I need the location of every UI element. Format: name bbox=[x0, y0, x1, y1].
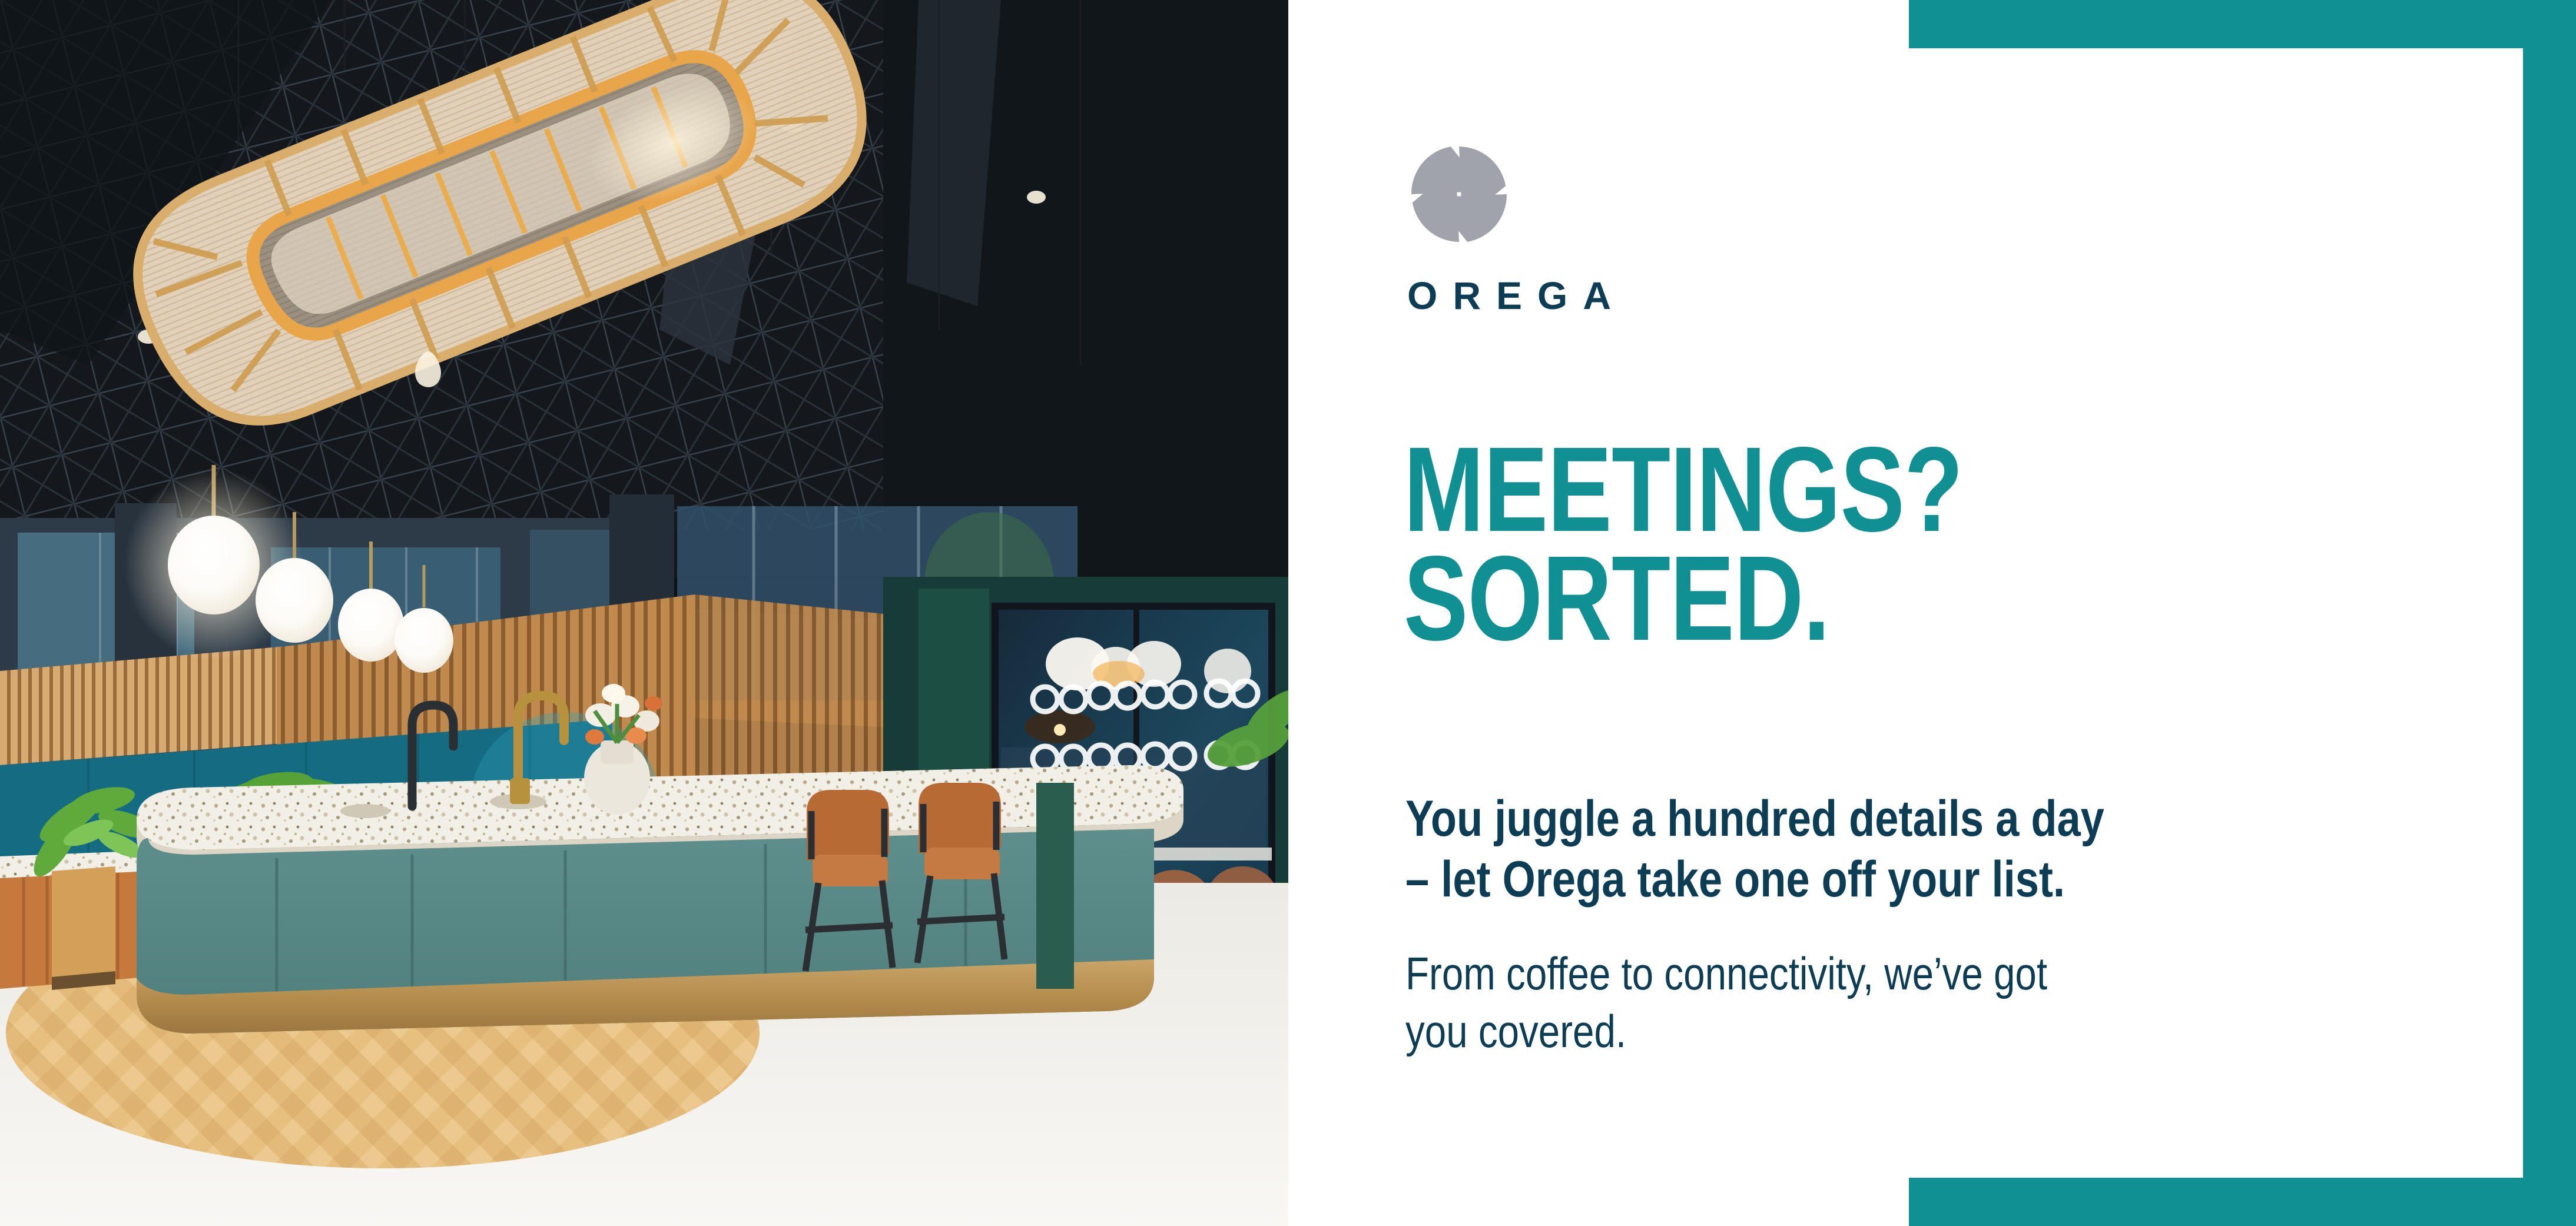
brand-wordmark: OREGA bbox=[1407, 276, 1937, 315]
content-column: OREGA MEETINGS? SORTED. You juggle a hun… bbox=[1407, 0, 2444, 1226]
headline-line-1: MEETINGS? bbox=[1404, 436, 2204, 544]
subheadline-line-1: You juggle a hundred details a day bbox=[1405, 789, 2345, 849]
subheadline-line-2: – let Orega take one off your list. bbox=[1405, 849, 2345, 910]
body-copy-line-2: you covered. bbox=[1405, 1002, 2345, 1060]
brand-logo[interactable]: OREGA bbox=[1407, 138, 1937, 315]
subheadline: You juggle a hundred details a day – let… bbox=[1405, 789, 2345, 910]
content-panel: OREGA MEETINGS? SORTED. You juggle a hun… bbox=[1288, 0, 2576, 1226]
marketing-banner: OREGA MEETINGS? SORTED. You juggle a hun… bbox=[0, 0, 2576, 1226]
teal-accent-edge-right bbox=[2523, 0, 2576, 1226]
office-interior-photo bbox=[0, 0, 1288, 1226]
orega-pinwheel-circle-icon bbox=[1407, 138, 1511, 250]
headline: MEETINGS? SORTED. bbox=[1404, 436, 2204, 653]
body-copy: From coffee to connectivity, we’ve got y… bbox=[1405, 945, 2345, 1061]
body-copy-line-1: From coffee to connectivity, we’ve got bbox=[1405, 945, 2345, 1002]
headline-line-2: SORTED. bbox=[1404, 544, 2204, 653]
